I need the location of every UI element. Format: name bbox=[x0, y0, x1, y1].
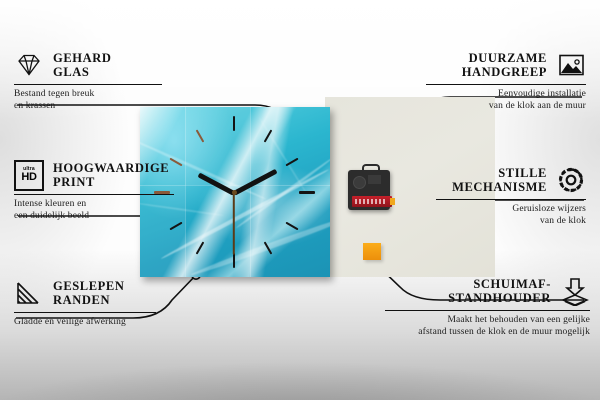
diamond-icon bbox=[14, 50, 44, 80]
feature-stille-mechanisme-header: STILLE MECHANISME bbox=[436, 165, 586, 195]
feature-duurzame-handgreep-title: DUURZAME HANDGREEP bbox=[462, 51, 547, 79]
feature-stille-mechanisme: STILLE MECHANISME Geruisloze wijzers van… bbox=[436, 165, 586, 227]
feature-duurzame-handgreep-rule bbox=[426, 84, 586, 85]
feature-hoogwaardige-print-title: HOOGWAARDIGE PRINT bbox=[53, 161, 169, 189]
foam-spacer-pad bbox=[363, 243, 381, 260]
feature-gehard-glas-rule bbox=[14, 84, 162, 85]
battery-terminal bbox=[390, 198, 395, 205]
clock-grid-v1 bbox=[185, 107, 186, 277]
feature-schuimafstandhouder-subtitle: Maakt het behouden van een gelijke afsta… bbox=[385, 315, 590, 338]
feature-stille-mechanisme-title: STILLE MECHANISME bbox=[452, 166, 547, 194]
clock-second-hand bbox=[233, 193, 235, 255]
clock-streak-3 bbox=[190, 214, 330, 277]
feature-gehard-glas-title: GEHARD GLAS bbox=[53, 51, 111, 79]
feature-geslepen-randen-rule bbox=[14, 312, 156, 313]
feature-schuimafstandhouder: SCHUIMAF- STANDHOUDER Maakt het behouden… bbox=[385, 276, 590, 338]
feature-geslepen-randen-title: GESLEPEN RANDEN bbox=[53, 279, 125, 307]
feature-stille-mechanisme-rule bbox=[436, 199, 586, 200]
clock-tick-12 bbox=[233, 116, 235, 131]
picture-frame-icon bbox=[556, 50, 586, 80]
arrow-down-pad-icon bbox=[560, 276, 590, 306]
clock-panel-b bbox=[185, 107, 250, 185]
feature-hoogwaardige-print-subtitle: Intense kleuren en een duidelijk beeld bbox=[14, 199, 174, 222]
clock-tick-4 bbox=[285, 222, 298, 231]
feature-duurzame-handgreep: DUURZAME HANDGREEP Eenvoudige installati… bbox=[426, 50, 586, 112]
clock-tick-3 bbox=[299, 191, 315, 194]
feature-duurzame-handgreep-subtitle: Eenvoudige installatie van de klok aan d… bbox=[426, 89, 586, 112]
feature-gehard-glas: GEHARD GLAS Bestand tegen breuk en krass… bbox=[14, 50, 162, 112]
feature-hoogwaardige-print-rule bbox=[14, 194, 174, 195]
infographic-canvas: GEHARD GLAS Bestand tegen breuk en krass… bbox=[0, 0, 600, 400]
clock-tick-2 bbox=[285, 158, 298, 167]
feature-schuimafstandhouder-title: SCHUIMAF- STANDHOUDER bbox=[448, 277, 551, 305]
feature-hoogwaardige-print: ultra HD HOOGWAARDIGE PRINT Intense kleu… bbox=[14, 160, 174, 222]
clock-streak-6 bbox=[258, 117, 307, 194]
feature-schuimafstandhouder-header: SCHUIMAF- STANDHOUDER bbox=[385, 276, 590, 306]
mechanism-dial-left bbox=[353, 176, 366, 189]
battery-label bbox=[355, 199, 386, 204]
feature-schuimafstandhouder-rule bbox=[385, 310, 590, 311]
clock-tick-7 bbox=[196, 241, 205, 254]
clock-center-hub bbox=[232, 190, 237, 195]
feature-geslepen-randen-subtitle: Gladde en veilige afwerking bbox=[14, 317, 156, 329]
feature-duurzame-handgreep-header: DUURZAME HANDGREEP bbox=[426, 50, 586, 80]
feature-gehard-glas-header: GEHARD GLAS bbox=[14, 50, 162, 80]
clock-tick-6 bbox=[233, 253, 235, 268]
ultra-hd-icon: ultra HD bbox=[14, 160, 44, 190]
battery bbox=[352, 196, 392, 207]
mechanism-dial-right bbox=[368, 175, 381, 184]
diagonal-lines-icon bbox=[14, 278, 44, 308]
feature-stille-mechanisme-subtitle: Geruisloze wijzers van de klok bbox=[436, 204, 586, 227]
feature-geslepen-randen: GESLEPEN RANDEN Gladde en veilige afwerk… bbox=[14, 278, 156, 329]
gear-icon bbox=[556, 165, 586, 195]
feature-geslepen-randen-header: GESLEPEN RANDEN bbox=[14, 278, 156, 308]
feature-gehard-glas-subtitle: Bestand tegen breuk en krassen bbox=[14, 89, 162, 112]
feature-hoogwaardige-print-header: ultra HD HOOGWAARDIGE PRINT bbox=[14, 160, 174, 190]
